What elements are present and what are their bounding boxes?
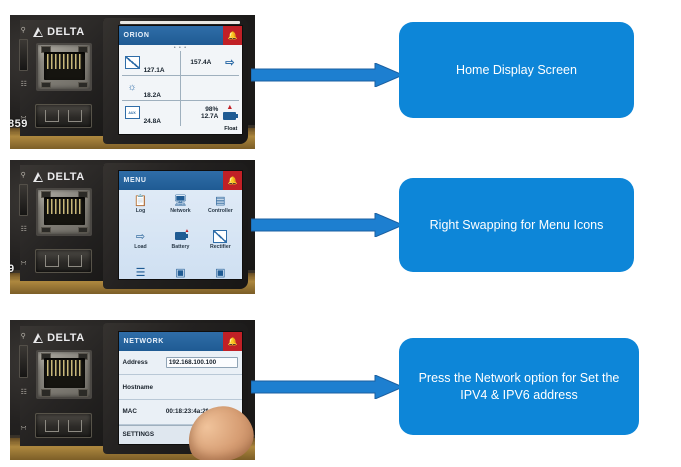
empty-cell-2 [219, 76, 239, 101]
rj45-led-bottom-left [41, 82, 51, 89]
rj45-slot [44, 52, 85, 81]
aux-current-cell: 24.8A [142, 101, 181, 126]
screen-bezel: ORION 🔔 • • • 127.1A 157.4A [118, 25, 244, 135]
menu-item-log[interactable]: 📋 Log [121, 192, 161, 228]
menu-next-row-peek[interactable]: ☰ [121, 264, 161, 279]
delta-brand-label: DELTA [47, 26, 85, 38]
battery-cell: 98% 12.7A [180, 101, 219, 126]
field-label: MAC [123, 408, 162, 415]
delta-triangle-icon [33, 333, 44, 343]
lan-icon: ☷ [21, 389, 27, 396]
lcd-home-screen[interactable]: ORION 🔔 • • • 127.1A 157.4A [118, 25, 244, 135]
lan-icon: ☷ [21, 81, 27, 88]
menu-item-label: Rectifier [210, 244, 231, 250]
menu-item-label: Log [136, 208, 146, 214]
battery-percent: 98% [205, 106, 218, 113]
rj45-led-bottom-right [78, 389, 88, 396]
settings-label: SETTINGS [123, 431, 155, 438]
delta-triangle-icon [33, 27, 44, 37]
device-faceplate: ⚲ ☷ ∺ DELTA [20, 20, 105, 135]
menu-grid: 📋 Log 🖥 Network ▤ Controller ⇨ [119, 190, 243, 279]
battery-icon [223, 112, 236, 120]
device-faceplate: ⚲ ☷ ∺ DELTA [20, 326, 105, 446]
delta-triangle-icon [33, 172, 44, 182]
aux-icon: AUX [122, 101, 142, 126]
menu-item-label: Battery [171, 244, 189, 250]
load-arrow-icon: ⇨ [134, 230, 148, 243]
rj45-led-bottom-left [41, 389, 51, 396]
flow-arrow-1 [251, 63, 403, 87]
menu-item-network[interactable]: 🖥 Network [160, 192, 200, 228]
battery-icon: ▲ [173, 230, 187, 243]
usb-port[interactable] [35, 104, 92, 128]
screen-bezel: MENU 🔔 📋 Log 🖥 Network ▤ [118, 170, 244, 280]
bell-icon[interactable]: 🔔 [223, 26, 242, 44]
usb-icon: ∺ [21, 425, 27, 432]
toggle-switch[interactable] [19, 345, 28, 378]
rj45-pins [47, 54, 82, 69]
menu-item-rectifier[interactable]: Rectifier [200, 228, 240, 264]
key-icon: ⚲ [21, 172, 26, 179]
lcd-titlebar: ORION 🔔 [119, 26, 243, 44]
rj45-led-bottom-right [78, 82, 88, 89]
rj45-slot [44, 197, 85, 226]
device-housing: NETWORK 🔔 Address 192.168.100.100 Hostna… [103, 323, 248, 455]
rectifier-icon [213, 230, 227, 243]
rectifier-icon [122, 51, 142, 76]
delta-logo: DELTA [33, 170, 95, 184]
warning-triangle-icon[interactable]: ▲ [226, 105, 233, 111]
partial-icon-left: ☰ [134, 266, 148, 279]
callout-home-text: Home Display Screen [456, 62, 577, 79]
controller-icon: ▤ [213, 194, 227, 207]
field-label: Address [123, 359, 162, 366]
device-photo-network: ⚲ ☷ ∺ DELTA [10, 320, 255, 460]
rj45-ethernet-port[interactable] [36, 188, 92, 236]
lcd-menu-screen[interactable]: MENU 🔔 📋 Log 🖥 Network ▤ [118, 170, 244, 280]
home-readouts-grid: 127.1A 157.4A ⇨ ☼ 18.2A [122, 51, 240, 126]
delta-brand-label: DELTA [47, 171, 85, 183]
partial-icon-mid: ▣ [173, 266, 187, 279]
flow-arrow-3 [251, 375, 403, 399]
battery-current: 12.7A [201, 113, 218, 120]
callout-network: Press the Network option for Set the IPV… [399, 338, 639, 435]
delta-logo: DELTA [33, 330, 95, 344]
device-housing: MENU 🔔 📋 Log 🖥 Network ▤ [103, 163, 248, 289]
menu-item-label: Load [134, 244, 146, 250]
device-faceplate: ⚲ ☷ ∺ DELTA [20, 165, 105, 280]
delta-logo: DELTA [33, 25, 95, 39]
solar-icon: ☼ [122, 76, 142, 101]
lcd-titlebar: MENU 🔔 [119, 171, 243, 189]
screen-title: NETWORK [124, 338, 164, 345]
menu-item-load[interactable]: ⇨ Load [121, 228, 161, 264]
log-icon: 📋 [134, 194, 148, 207]
device-photo-home: ⚲ ☷ ∺ DELTA [10, 15, 255, 149]
callout-menu-text: Right Swapping for Menu Icons [430, 217, 604, 234]
bell-icon[interactable]: 🔔 [223, 171, 242, 189]
delta-brand-label: DELTA [47, 332, 85, 344]
network-row-address[interactable]: Address 192.168.100.100 [119, 351, 243, 376]
total-current-cell: 157.4A [180, 51, 219, 76]
usb-port[interactable] [35, 413, 92, 438]
menu-item-label: Network [170, 208, 190, 214]
battery-state-label: Float [122, 126, 240, 132]
key-icon: ⚲ [21, 27, 26, 34]
device-photo-menu: ⚲ ☷ ∺ DELTA [10, 160, 255, 294]
load-arrow-icon[interactable]: ⇨ [219, 51, 239, 76]
usb-icon: ∺ [21, 260, 27, 267]
network-row-hostname[interactable]: Hostname [119, 375, 243, 400]
partial-icon-right: ▣ [213, 266, 227, 279]
rj45-slot [44, 358, 85, 388]
toggle-switch[interactable] [19, 39, 28, 71]
rectifier-current-cell: 127.1A [142, 51, 181, 76]
menu-item-controller[interactable]: ▤ Controller [200, 192, 240, 228]
screen-title: MENU [124, 177, 147, 184]
device-housing: ORION 🔔 • • • 127.1A 157.4A [103, 18, 248, 144]
rj45-ethernet-port[interactable] [36, 43, 92, 91]
address-value[interactable]: 192.168.100.100 [166, 357, 238, 368]
rj45-pins [47, 360, 82, 376]
screen-title: ORION [124, 32, 150, 39]
home-screen-body: • • • 127.1A 157.4A ⇨ [119, 45, 243, 134]
battery-status-icons: ▲ [219, 101, 239, 126]
lan-icon: ☷ [21, 226, 27, 233]
menu-item-battery[interactable]: ▲ Battery [160, 228, 200, 264]
solar-current-cell: 18.2A [142, 76, 181, 101]
photo-watermark: 9 [10, 263, 15, 275]
menu-item-label: Controller [208, 208, 233, 214]
field-label: Hostname [123, 384, 162, 391]
rj45-pins [47, 199, 82, 214]
photo-watermark: 859 [10, 118, 28, 130]
key-icon: ⚲ [21, 333, 26, 340]
network-icon: 🖥 [173, 194, 187, 207]
flow-arrow-2 [251, 213, 403, 237]
menu-next-row-peek-3[interactable]: ▣ [200, 264, 240, 279]
empty-cell [180, 76, 219, 101]
rj45-led-bottom-right [78, 227, 88, 234]
callout-menu: Right Swapping for Menu Icons [399, 178, 634, 272]
lcd-titlebar: NETWORK 🔔 [119, 332, 243, 351]
usb-port[interactable] [35, 249, 92, 273]
callout-home: Home Display Screen [399, 22, 634, 118]
menu-next-row-peek-2[interactable]: ▣ [160, 264, 200, 279]
bell-icon[interactable]: 🔔 [223, 332, 242, 351]
diagram-canvas: ⚲ ☷ ∺ DELTA [0, 0, 681, 467]
rj45-ethernet-port[interactable] [36, 350, 92, 400]
housing-highlight-strip [120, 21, 240, 24]
toggle-switch[interactable] [19, 184, 28, 216]
warning-triangle-icon: ▲ [184, 228, 189, 234]
callout-network-text: Press the Network option for Set the IPV… [413, 370, 625, 404]
rj45-led-bottom-left [41, 227, 51, 234]
